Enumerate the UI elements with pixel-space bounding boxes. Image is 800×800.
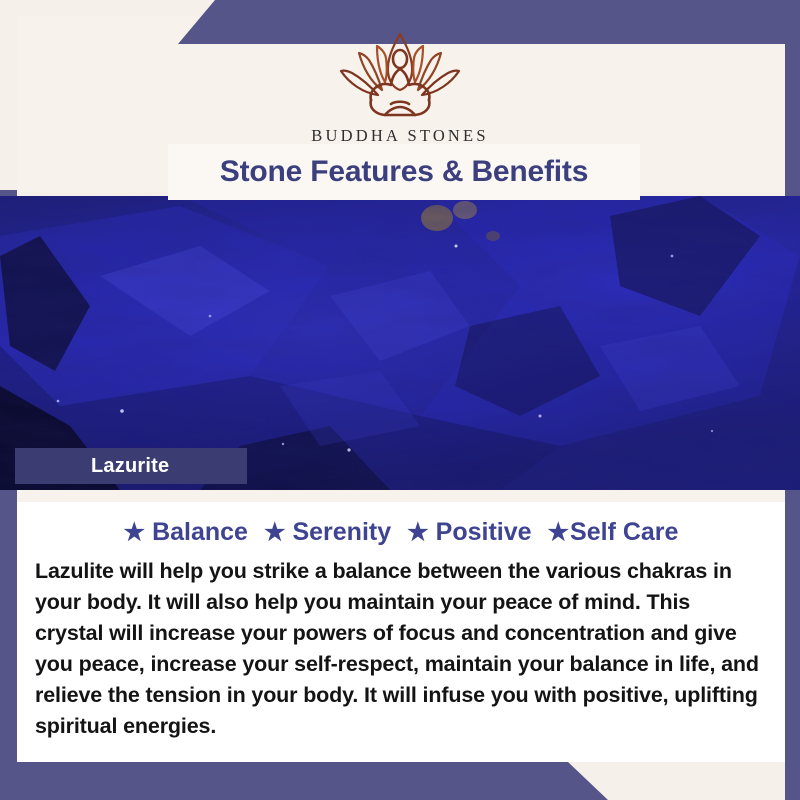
benefit-label: Balance <box>152 518 248 547</box>
page-title: Stone Features & Benefits <box>220 155 588 189</box>
description-card: ★ Balance ★ Serenity ★ Positive ★ Self C… <box>17 490 785 762</box>
benefit-item-0: ★ Balance <box>124 518 248 547</box>
page-title-band: Stone Features & Benefits <box>168 144 640 200</box>
benefit-label: Self Care <box>570 518 678 547</box>
card-top-stripe <box>17 490 785 502</box>
decorative-frame-bottom <box>0 762 800 800</box>
star-icon: ★ <box>264 521 286 545</box>
benefits-row: ★ Balance ★ Serenity ★ Positive ★ Self C… <box>17 518 785 547</box>
stone-name: Lazurite <box>15 455 169 478</box>
stone-name-tag: Lazurite <box>15 448 247 484</box>
brand-name: BUDDHA STONES <box>311 126 488 146</box>
star-icon: ★ <box>407 521 429 545</box>
brand-logo: BUDDHA STONES <box>0 26 800 146</box>
star-icon: ★ <box>124 521 146 545</box>
lazurite-stone-image <box>0 196 800 490</box>
stone-photo <box>0 196 800 490</box>
benefit-item-3: ★ Self Care <box>548 518 679 547</box>
benefit-label: Serenity <box>292 518 391 547</box>
benefit-item-2: ★ Positive <box>407 518 531 547</box>
benefit-item-1: ★ Serenity <box>264 518 391 547</box>
stone-info-poster: BUDDHA STONES Stone Features & Benefits <box>0 0 800 800</box>
benefit-label: Positive <box>436 518 532 547</box>
lotus-meditation-icon <box>325 26 475 122</box>
stone-description: Lazulite will help you strike a balance … <box>35 556 761 742</box>
star-icon: ★ <box>548 521 570 545</box>
